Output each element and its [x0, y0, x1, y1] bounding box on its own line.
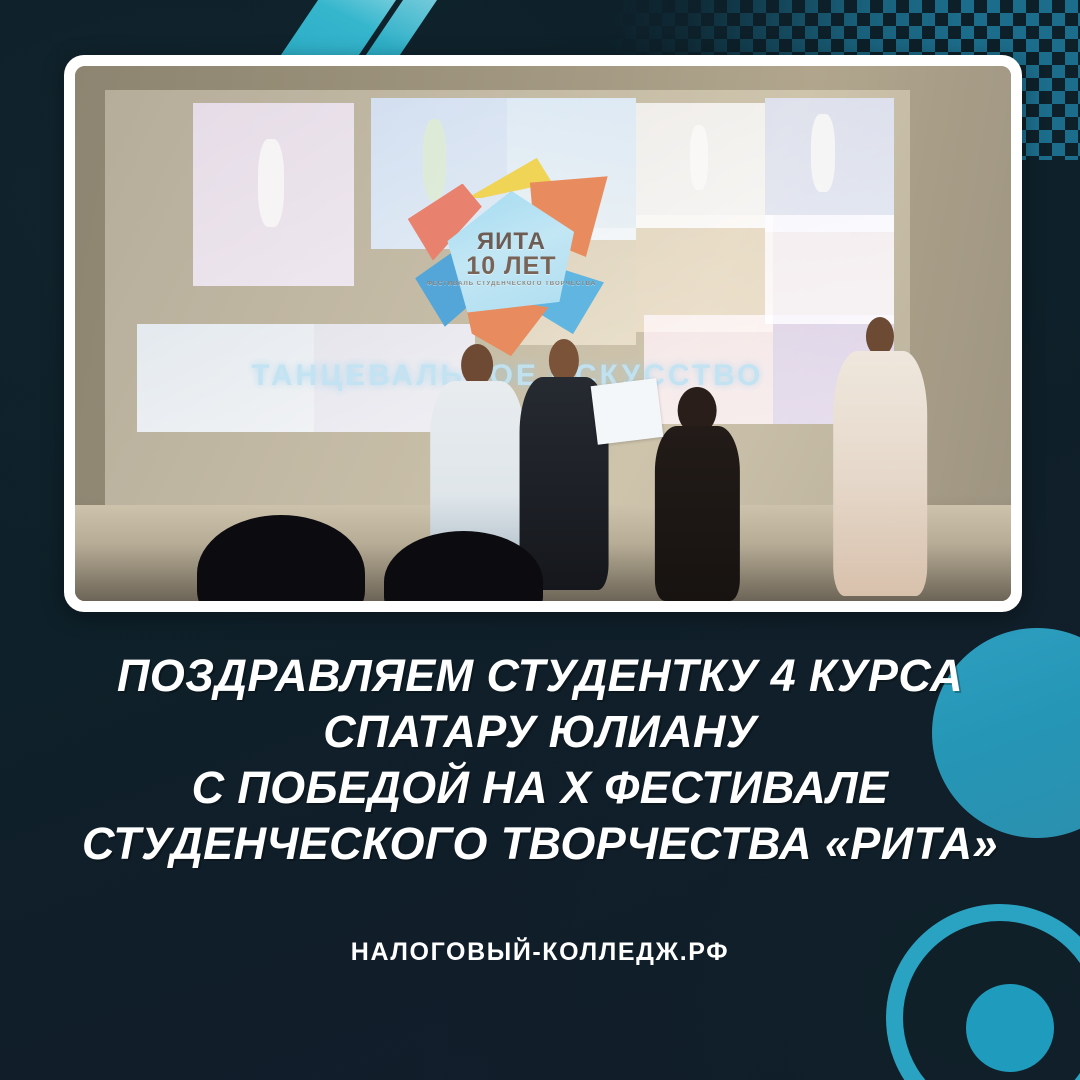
teal-ring-icon	[886, 904, 1080, 1080]
logo-line-1: ЯИТА	[419, 231, 604, 253]
teal-dot-icon	[966, 984, 1054, 1072]
headline-line-2: СПАТАРУ ЮЛИАНУ	[34, 704, 1046, 760]
event-photo: ЯИТА 10 ЛЕТ ФЕСТИВАЛЬ СТУДЕНЧЕСКОГО ТВОР…	[75, 66, 1011, 601]
festival-logo: ЯИТА 10 ЛЕТ ФЕСТИВАЛЬ СТУДЕНЧЕСКОГО ТВОР…	[419, 165, 604, 349]
collage-tile	[193, 103, 354, 287]
logo-line-2: 10 ЛЕТ	[419, 253, 604, 279]
headline-line-1: ПОЗДРАВЛЯЕМ СТУДЕНТКУ 4 КУРСА	[34, 648, 1046, 704]
person-awardee	[520, 339, 609, 590]
website-url: НАЛОГОВЫЙ-КОЛЛЕДЖ.РФ	[0, 938, 1080, 967]
person-photographer	[655, 387, 739, 601]
headline-line-3: С ПОБЕДОЙ НА X ФЕСТИВАЛЕ	[34, 760, 1046, 816]
person-presenter	[833, 317, 927, 595]
photo-frame: ЯИТА 10 ЛЕТ ФЕСТИВАЛЬ СТУДЕНЧЕСКОГО ТВОР…	[64, 55, 1022, 612]
collage-tile	[765, 215, 894, 323]
logo-line-3: ФЕСТИВАЛЬ СТУДЕНЧЕСКОГО ТВОРЧЕСТВА	[419, 279, 604, 289]
headline: ПОЗДРАВЛЯЕМ СТУДЕНТКУ 4 КУРСА СПАТАРУ ЮЛ…	[0, 648, 1080, 872]
collage-tile	[636, 103, 765, 228]
poster-canvas: ЯИТА 10 ЛЕТ ФЕСТИВАЛЬ СТУДЕНЧЕСКОГО ТВОР…	[0, 0, 1080, 1080]
collage-tile	[765, 98, 894, 232]
certificate	[591, 378, 663, 444]
logo-text: ЯИТА 10 ЛЕТ ФЕСТИВАЛЬ СТУДЕНЧЕСКОГО ТВОР…	[419, 231, 604, 289]
headline-line-4: СТУДЕНЧЕСКОГО ТВОРЧЕСТВА «РИТА»	[34, 816, 1046, 872]
